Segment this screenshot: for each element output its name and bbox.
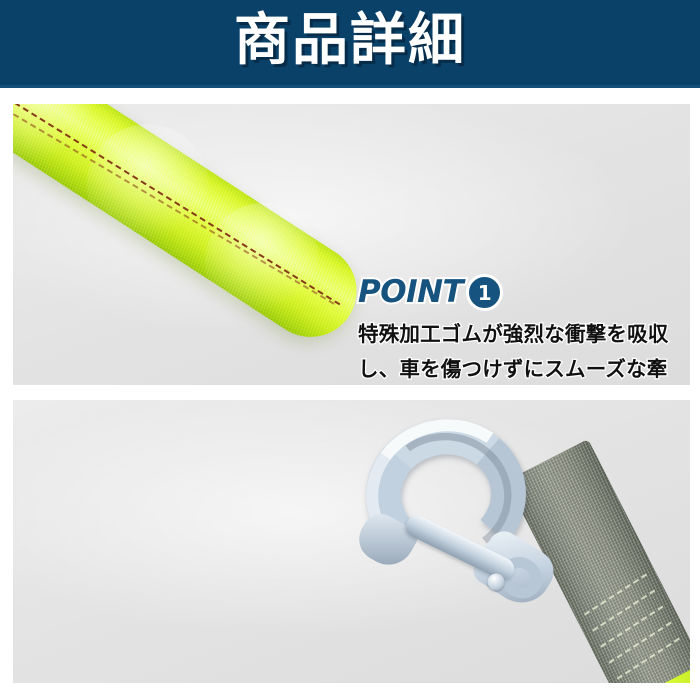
product-detail-page: 商品詳細 POINT 1 特殊加工ゴムが強烈な衝撃を吸収し、車を傷つけずにスムー… bbox=[0, 0, 700, 700]
detail-panel-1: POINT 1 特殊加工ゴムが強烈な衝撃を吸収し、車を傷つけずにスムーズな牽引が… bbox=[13, 104, 690, 385]
chrome-hook bbox=[344, 402, 574, 624]
header-banner: 商品詳細 bbox=[0, 0, 700, 85]
steel-hook-photo bbox=[333, 410, 690, 683]
point-1-body-text: 特殊加工ゴムが強烈な衝撃を吸収し、車を傷つけずにスムーズな牽引が出来ます。 bbox=[358, 317, 688, 385]
green-round-sling-photo bbox=[13, 104, 383, 385]
point-1-heading: POINT 1 bbox=[358, 274, 688, 311]
point-1-label: POINT bbox=[358, 277, 463, 308]
point-1-block: POINT 1 特殊加工ゴムが強烈な衝撃を吸収し、車を傷つけずにスムーズな牽引が… bbox=[358, 274, 688, 385]
header-divider bbox=[0, 85, 700, 88]
point-1-number-badge: 1 bbox=[466, 274, 503, 311]
page-title: 商品詳細 bbox=[234, 13, 466, 72]
detail-panel-2: POINT 2 簡単に取り付けやすく外れにくいストッパー付きフック。2台の車の所… bbox=[13, 400, 690, 683]
sling-strap-shape bbox=[13, 104, 374, 355]
